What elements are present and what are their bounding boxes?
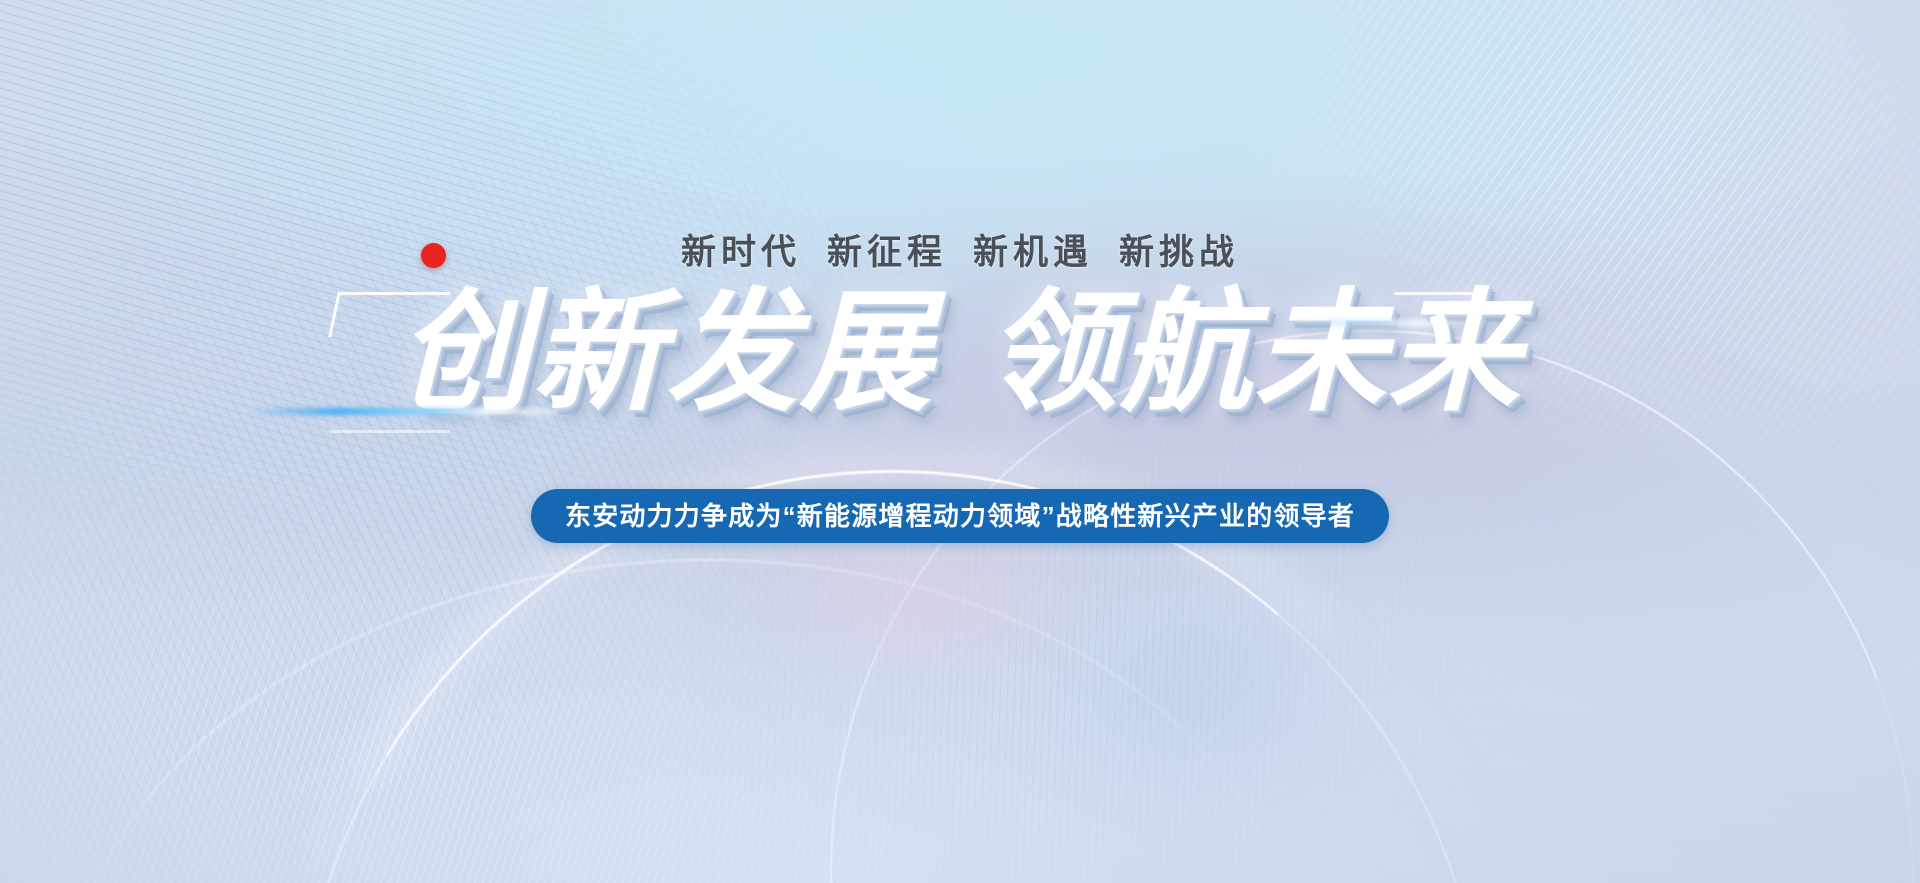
page-title: 创新发展领航未来 xyxy=(0,278,1920,428)
light-streak-right xyxy=(1280,320,1500,326)
tagline-segment-3: 新机遇 xyxy=(973,233,1093,272)
light-streak-left xyxy=(250,408,580,415)
tagline-segment-4: 新挑战 xyxy=(1119,233,1239,272)
slogan-pill: 东安动力力争成为“新能源增程动力领域”战略性新兴产业的领导者 xyxy=(531,489,1389,543)
promo-banner: 新时代新征程新机遇新挑战 创新发展领航未来 东安动力力争成为“新能源增程动力领域… xyxy=(0,0,1920,883)
headline-block: 新时代新征程新机遇新挑战 创新发展领航未来 东安动力力争成为“新能源增程动力领域… xyxy=(0,0,1920,883)
tagline: 新时代新征程新机遇新挑战 xyxy=(0,224,1920,275)
red-dot-icon xyxy=(421,243,446,268)
tagline-segment-2: 新征程 xyxy=(827,233,947,272)
headline-part-right: 领航未来 xyxy=(986,279,1522,426)
headline-part-left: 创新发展 xyxy=(398,279,934,426)
tagline-segment-1: 新时代 xyxy=(681,233,801,272)
bracket-underline-icon xyxy=(330,430,451,433)
